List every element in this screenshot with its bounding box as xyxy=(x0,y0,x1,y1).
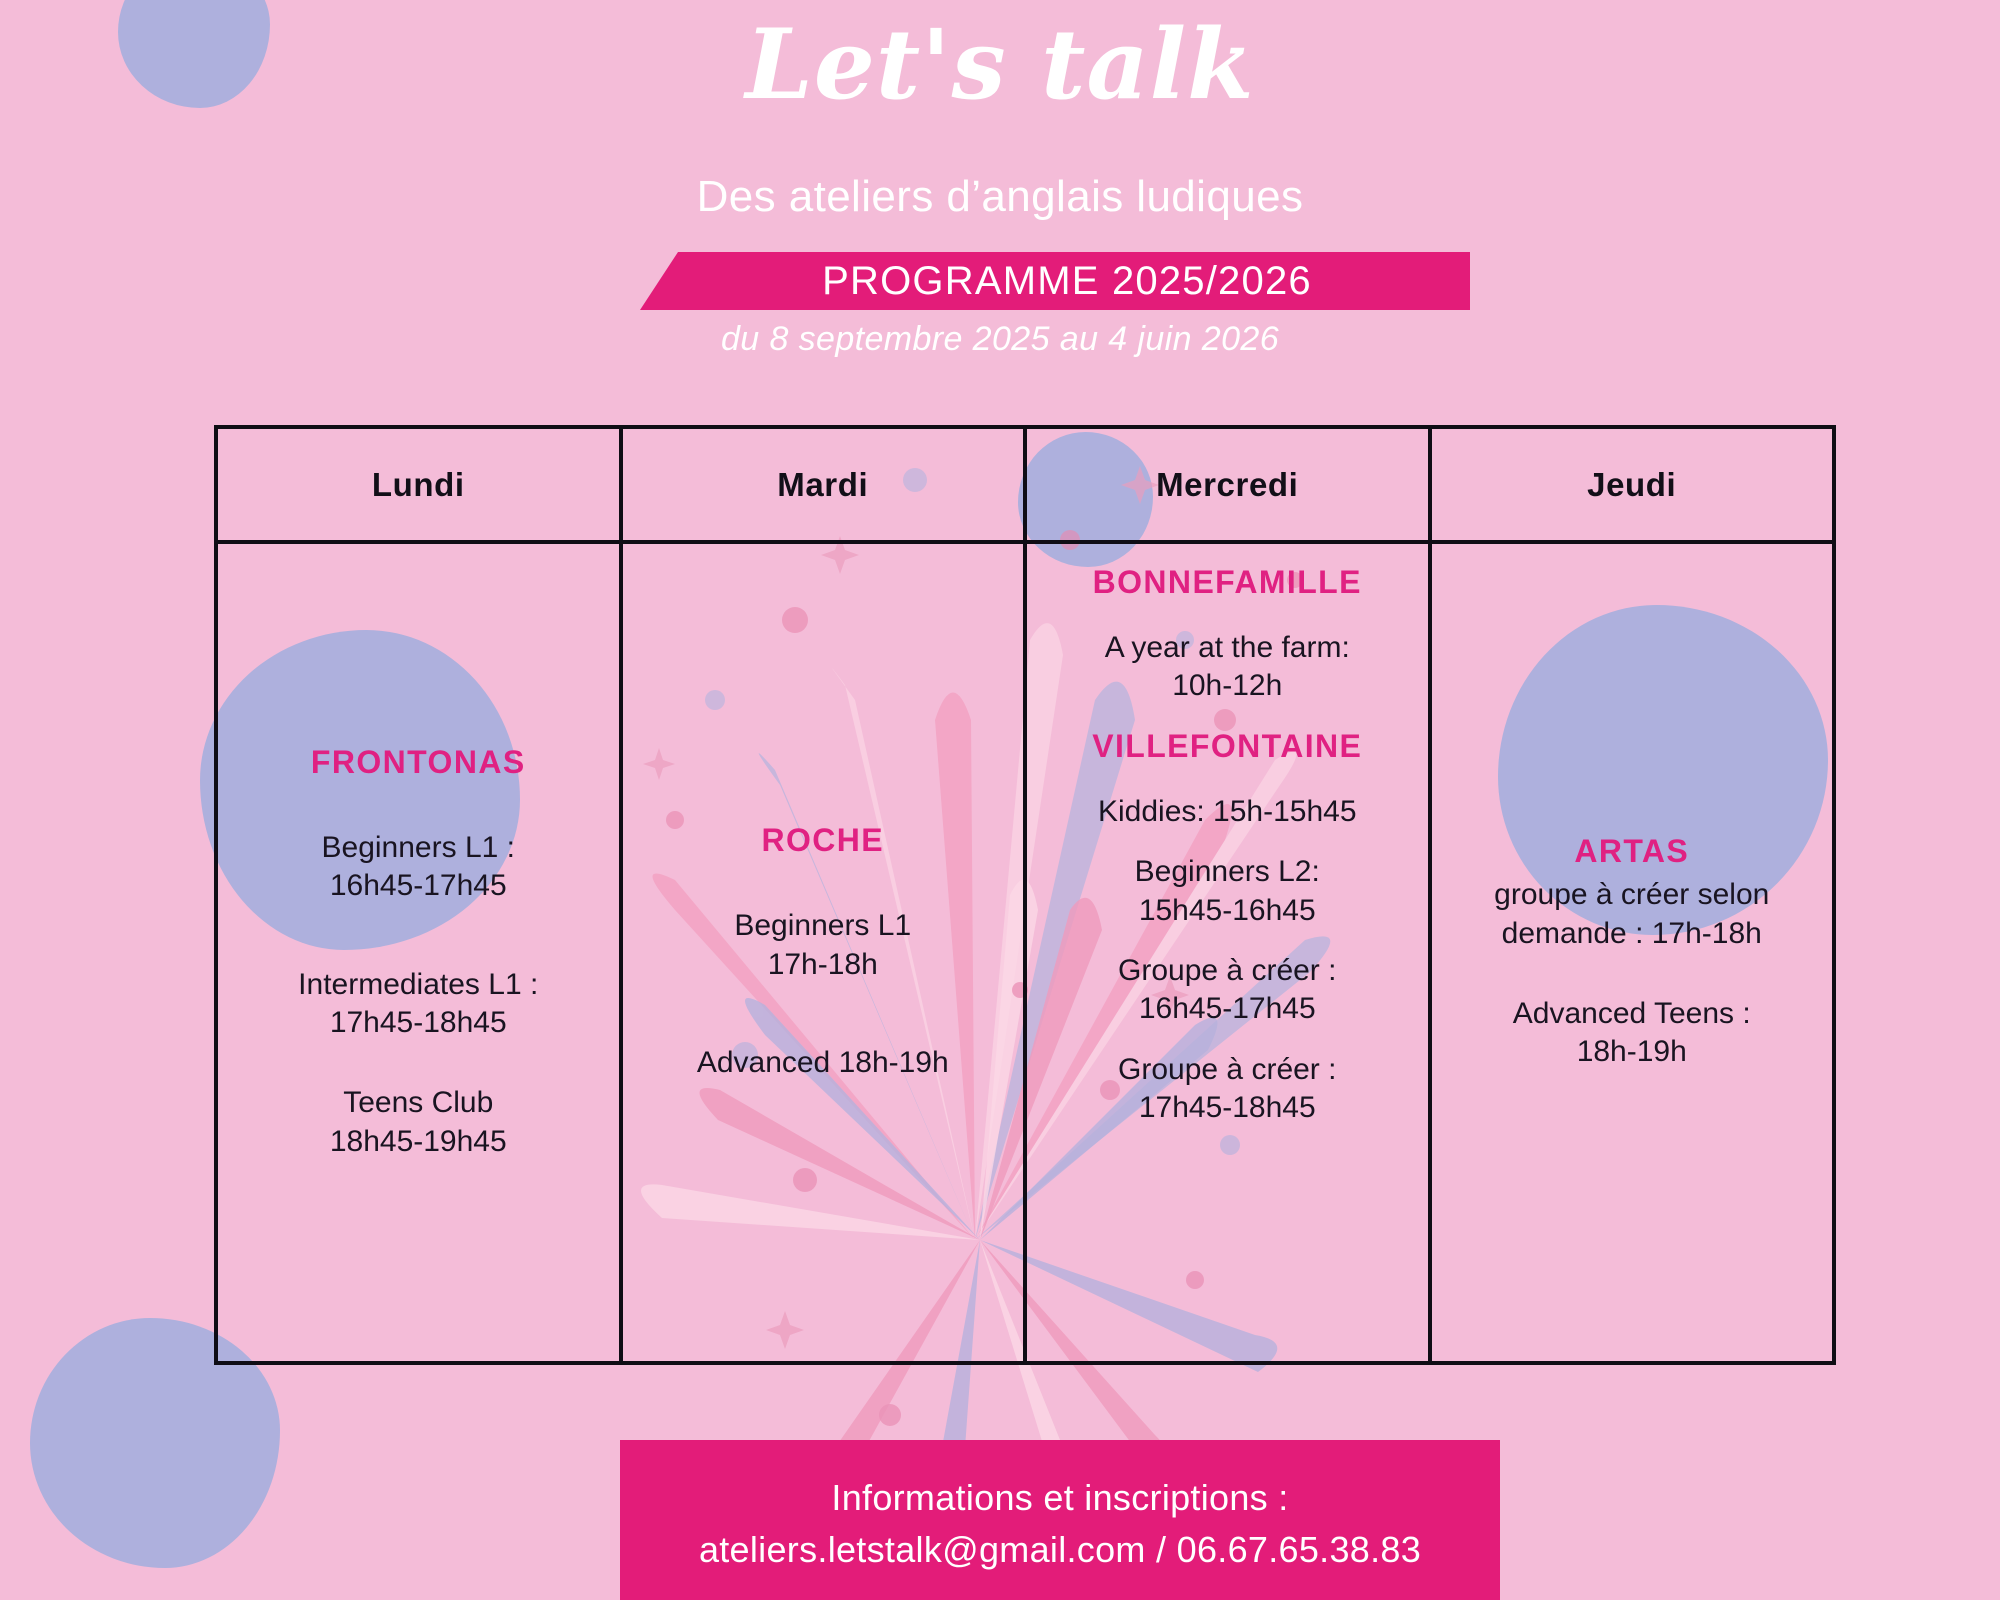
entry-frontonas-beginners: Beginners L1 : 16h45-17h45 xyxy=(322,829,515,906)
page-subtitle: Des ateliers d’anglais ludiques xyxy=(0,172,2000,222)
entry-roche-advanced: Advanced 18h-19h xyxy=(697,1044,949,1082)
entry-villefontaine-groupe-2: Groupe à créer : 17h45-18h45 xyxy=(1118,1051,1336,1128)
city-artas: ARTAS xyxy=(1574,833,1689,870)
column-body-mercredi: BONNEFAMILLE A year at the farm: 10h-12h… xyxy=(1027,544,1428,1361)
city-frontonas: FRONTONAS xyxy=(311,744,526,781)
contact-footer: Informations et inscriptions : ateliers.… xyxy=(620,1440,1500,1600)
city-roche: ROCHE xyxy=(761,822,884,859)
schedule-column-lundi: Lundi FRONTONAS Beginners L1 : 16h45-17h… xyxy=(218,429,623,1361)
date-range: du 8 septembre 2025 au 4 juin 2026 xyxy=(0,320,2000,359)
footer-contact-details[interactable]: ateliers.letstalk@gmail.com / 06.67.65.3… xyxy=(699,1524,1421,1576)
page-title: Let's talk xyxy=(0,12,2000,118)
schedule-column-jeudi: Jeudi ARTAS groupe à créer selon demande… xyxy=(1432,429,1833,1361)
entry-artas-groupe: groupe à créer selon demande : 17h-18h xyxy=(1494,876,1769,953)
schedule-column-mardi: Mardi ROCHE Beginners L1 17h-18h Advance… xyxy=(623,429,1028,1361)
column-header-mardi: Mardi xyxy=(623,429,1024,544)
column-header-mercredi: Mercredi xyxy=(1027,429,1428,544)
entry-bonnefamille-farm: A year at the farm: 10h-12h xyxy=(1105,629,1350,706)
entry-villefontaine-kiddies: Kiddies: 15h-15h45 xyxy=(1098,793,1357,831)
column-header-jeudi: Jeudi xyxy=(1432,429,1833,544)
column-body-mardi: ROCHE Beginners L1 17h-18h Advanced 18h-… xyxy=(623,544,1024,1361)
city-bonnefamille: BONNEFAMILLE xyxy=(1093,564,1362,601)
banner-label: PROGRAMME 2025/2026 xyxy=(640,252,1470,310)
programme-banner: PROGRAMME 2025/2026 xyxy=(640,252,1470,310)
entry-villefontaine-groupe-1: Groupe à créer : 16h45-17h45 xyxy=(1118,952,1336,1029)
schedule-table: Lundi FRONTONAS Beginners L1 : 16h45-17h… xyxy=(214,425,1836,1365)
entry-artas-advanced-teens: Advanced Teens : 18h-19h xyxy=(1513,995,1751,1072)
poster-canvas: Let's talk Des ateliers d’anglais ludiqu… xyxy=(0,0,2000,1600)
city-villefontaine: VILLEFONTAINE xyxy=(1092,728,1362,765)
column-body-lundi: FRONTONAS Beginners L1 : 16h45-17h45 Int… xyxy=(218,544,619,1361)
footer-info-label: Informations et inscriptions : xyxy=(831,1472,1288,1524)
entry-frontonas-teens: Teens Club 18h45-19h45 xyxy=(330,1084,507,1161)
column-header-lundi: Lundi xyxy=(218,429,619,544)
column-body-jeudi: ARTAS groupe à créer selon demande : 17h… xyxy=(1432,544,1833,1361)
entry-villefontaine-beginners-l2: Beginners L2: 15h45-16h45 xyxy=(1135,853,1320,930)
entry-roche-beginners: Beginners L1 17h-18h xyxy=(734,907,911,984)
entry-frontonas-intermediates: Intermediates L1 : 17h45-18h45 xyxy=(298,966,538,1043)
schedule-column-mercredi: Mercredi BONNEFAMILLE A year at the farm… xyxy=(1027,429,1432,1361)
